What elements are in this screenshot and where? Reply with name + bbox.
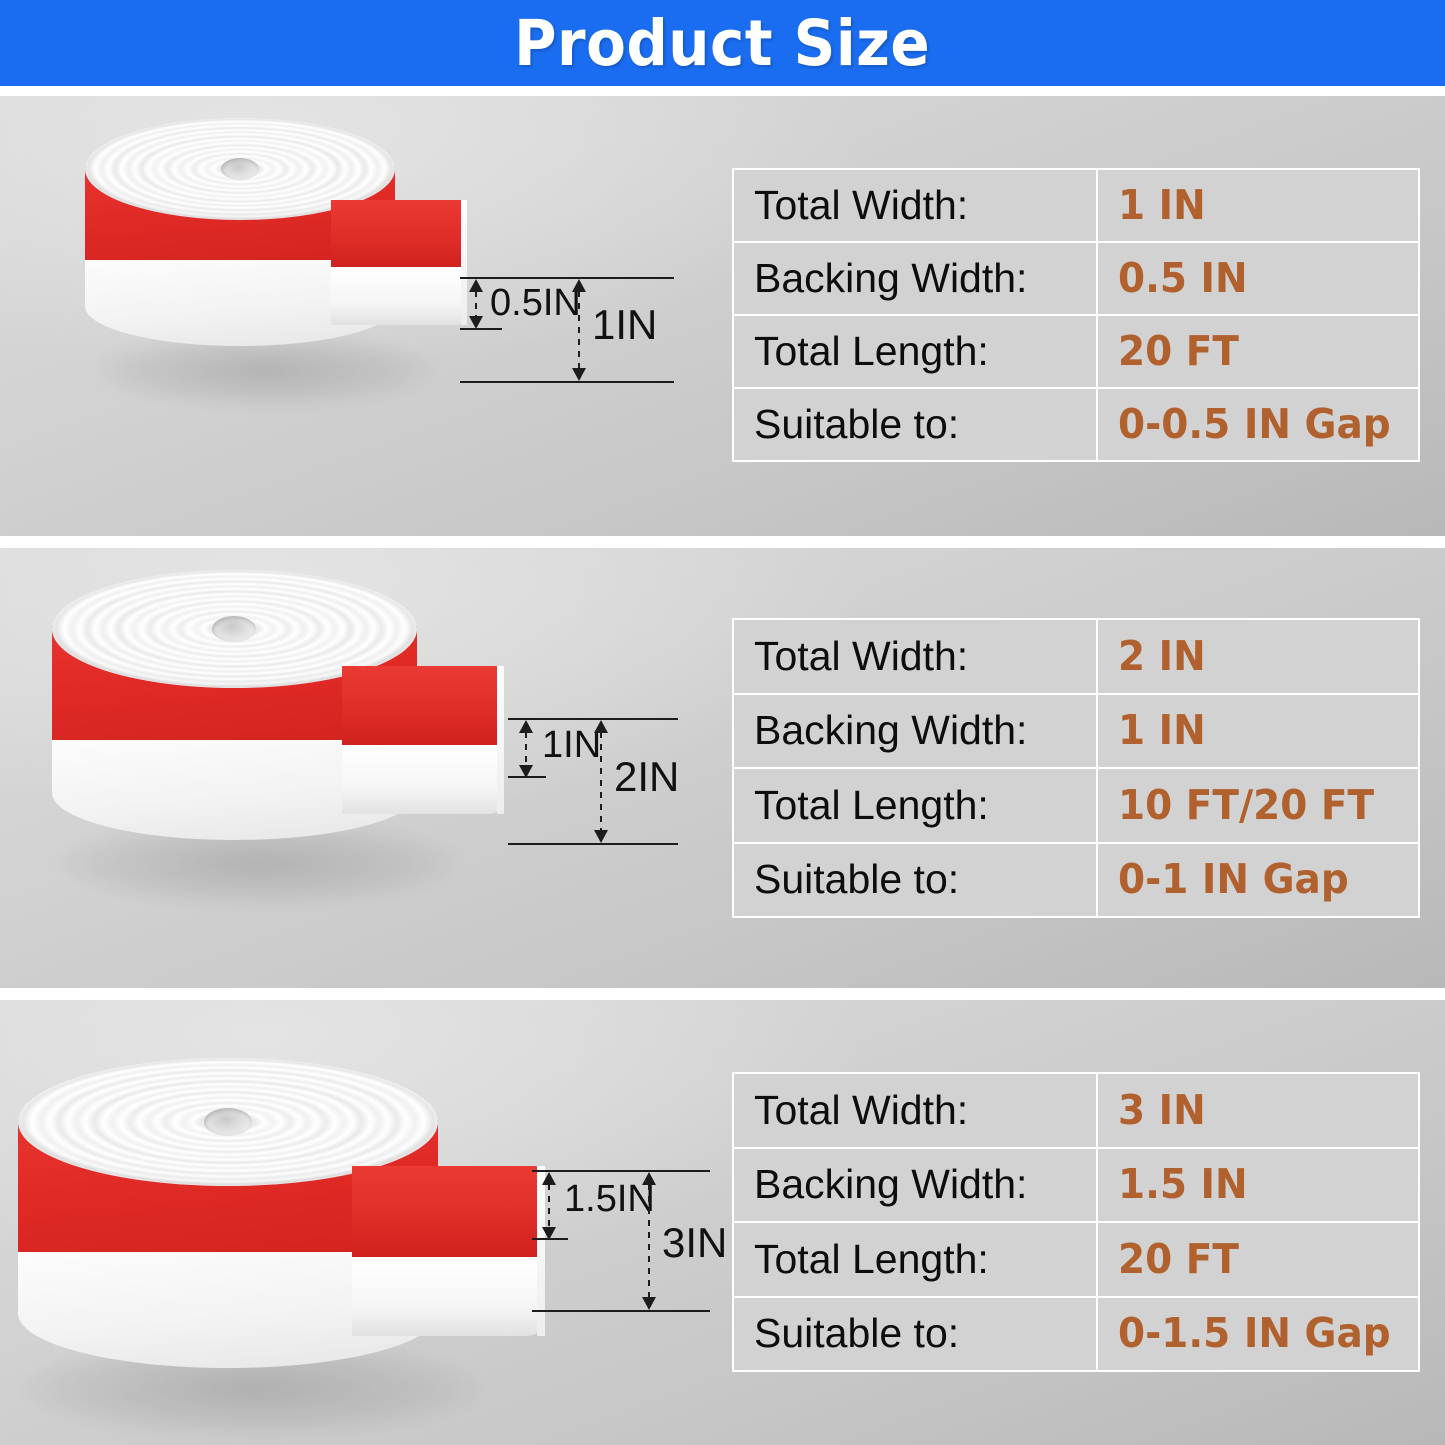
dim-top-extension-line-1 xyxy=(460,277,674,279)
spec-cell-label: Total Length: xyxy=(734,769,1096,842)
table-row: Total Length: 10 FT/20 FT xyxy=(734,769,1418,842)
dim-backing-dash-3 xyxy=(548,1184,550,1228)
table-row: Total Width: 2 IN xyxy=(734,620,1418,693)
spec-value-backing-width-2: 1 IN xyxy=(1118,710,1206,751)
product-panel-2: 1IN 2IN Total Width: 2 IN Backing Width:… xyxy=(0,548,1445,988)
spec-value-total-length-1: 20 FT xyxy=(1118,331,1239,372)
dim-total-arrow-1 xyxy=(578,279,580,381)
header-banner: Product Size xyxy=(0,0,1445,86)
roll-center-hole-1 xyxy=(221,158,259,180)
dim-total-dash-3 xyxy=(648,1184,650,1298)
roll-tail-white-2 xyxy=(342,745,502,814)
tape-roll-image-3 xyxy=(18,1058,558,1445)
dim-total-label-2: 2IN xyxy=(614,756,679,798)
dim-backing-dash-1 xyxy=(475,291,477,317)
spec-cell-value: 20 FT xyxy=(1098,316,1418,387)
spec-cell-value: 0-1.5 IN Gap xyxy=(1098,1298,1418,1371)
spec-cell-label: Backing Width: xyxy=(734,243,1096,314)
dim-backing-label-3: 1.5IN xyxy=(564,1180,655,1218)
spec-label-backing-width-3: Backing Width: xyxy=(754,1161,1027,1207)
spec-table-3: Total Width: 3 IN Backing Width: 1.5 IN … xyxy=(732,1072,1420,1372)
table-row: Total Length: 20 FT xyxy=(734,316,1418,387)
dim-backing-arrow-2 xyxy=(525,720,527,778)
roll-tail-red-3 xyxy=(352,1166,542,1257)
page-title: Product Size xyxy=(514,12,930,75)
spec-value-total-length-3: 20 FT xyxy=(1118,1239,1239,1280)
dimension-annotation-2: 1IN 2IN xyxy=(498,548,728,928)
dimension-annotation-1: 0.5IN 1IN xyxy=(450,96,680,436)
dim-total-arrow-down-3 xyxy=(642,1297,656,1310)
roll-tail-red-1 xyxy=(331,200,466,267)
dim-backing-label-2: 1IN xyxy=(542,726,601,764)
spec-label-suitable-to-3: Suitable to: xyxy=(754,1310,959,1356)
roll-tail-red-2 xyxy=(342,666,502,745)
spec-table-1: Total Width: 1 IN Backing Width: 0.5 IN … xyxy=(732,168,1420,462)
dim-top-extension-line-3 xyxy=(532,1170,710,1172)
product-panel-1: 0.5IN 1IN Total Width: 1 IN Backing Widt… xyxy=(0,96,1445,536)
spec-value-suitable-to-3: 0-1.5 IN Gap xyxy=(1118,1313,1391,1354)
table-row: Total Width: 1 IN xyxy=(734,170,1418,241)
dim-total-label-1: 1IN xyxy=(592,304,657,346)
dim-total-arrow-down-1 xyxy=(572,368,586,381)
spec-label-suitable-to-1: Suitable to: xyxy=(754,401,959,447)
spec-label-suitable-to-2: Suitable to: xyxy=(754,856,959,902)
roll-tail-1 xyxy=(331,200,466,325)
dim-total-dash-1 xyxy=(578,291,580,369)
dim-backing-dash-2 xyxy=(525,732,527,766)
roll-tail-2 xyxy=(342,666,502,814)
spec-cell-value: 0.5 IN xyxy=(1098,243,1418,314)
spec-cell-label: Total Width: xyxy=(734,620,1096,693)
table-row: Backing Width: 1.5 IN xyxy=(734,1149,1418,1222)
roll-tail-white-3 xyxy=(352,1257,542,1336)
spec-cell-value: 1 IN xyxy=(1098,695,1418,768)
spec-value-suitable-to-2: 0-1 IN Gap xyxy=(1118,859,1349,900)
table-row: Suitable to: 0-1 IN Gap xyxy=(734,844,1418,917)
dim-bottom-extension-line-3 xyxy=(532,1310,710,1312)
product-panel-3: 1.5IN 3IN Total Width: 3 IN Backing Widt… xyxy=(0,1000,1445,1445)
roll-tail-3 xyxy=(352,1166,542,1336)
dim-backing-arrow-down-1 xyxy=(469,316,483,329)
dim-backing-arrow-1 xyxy=(475,279,477,329)
spec-cell-value: 1.5 IN xyxy=(1098,1149,1418,1222)
spec-value-total-width-1: 1 IN xyxy=(1118,185,1206,226)
spec-value-backing-width-1: 0.5 IN xyxy=(1118,258,1248,299)
roll-tail-white-1 xyxy=(331,267,466,325)
spec-label-backing-width-2: Backing Width: xyxy=(754,707,1027,753)
spec-table-2: Total Width: 2 IN Backing Width: 1 IN To… xyxy=(732,618,1420,918)
dimension-annotation-3: 1.5IN 3IN xyxy=(524,1000,744,1400)
spec-value-suitable-to-1: 0-0.5 IN Gap xyxy=(1118,404,1391,445)
product-size-infographic: Product Size xyxy=(0,0,1445,1445)
dim-bottom-extension-line-2 xyxy=(508,843,678,845)
spec-label-backing-width-1: Backing Width: xyxy=(754,255,1027,301)
dim-total-arrow-down-2 xyxy=(594,830,608,843)
spec-cell-value: 0-0.5 IN Gap xyxy=(1098,389,1418,460)
table-row: Suitable to: 0-0.5 IN Gap xyxy=(734,389,1418,460)
spec-cell-value: 3 IN xyxy=(1098,1074,1418,1147)
spec-label-total-width-2: Total Width: xyxy=(754,633,968,679)
spec-value-total-length-2: 10 FT/20 FT xyxy=(1118,785,1374,826)
spec-label-total-width-1: Total Width: xyxy=(754,182,968,228)
spec-cell-label: Suitable to: xyxy=(734,1298,1096,1371)
spec-cell-label: Backing Width: xyxy=(734,1149,1096,1222)
spec-cell-value: 10 FT/20 FT xyxy=(1098,769,1418,842)
spec-cell-label: Total Length: xyxy=(734,316,1096,387)
table-row: Total Length: 20 FT xyxy=(734,1223,1418,1296)
dim-total-arrow-3 xyxy=(648,1172,650,1310)
dim-backing-label-1: 0.5IN xyxy=(490,284,581,322)
table-row: Total Width: 3 IN xyxy=(734,1074,1418,1147)
spec-cell-value: 0-1 IN Gap xyxy=(1098,844,1418,917)
spec-value-total-width-2: 2 IN xyxy=(1118,636,1206,677)
spec-table-grid-3: Total Width: 3 IN Backing Width: 1.5 IN … xyxy=(732,1072,1420,1372)
spec-table-grid-1: Total Width: 1 IN Backing Width: 0.5 IN … xyxy=(732,168,1420,462)
spec-cell-label: Total Width: xyxy=(734,170,1096,241)
spec-cell-value: 20 FT xyxy=(1098,1223,1418,1296)
dim-total-arrow-2 xyxy=(600,720,602,843)
tape-roll-image-2 xyxy=(52,570,512,910)
dim-bottom-extension-line-1 xyxy=(460,381,674,383)
dim-top-extension-line-2 xyxy=(508,718,678,720)
table-row: Backing Width: 0.5 IN xyxy=(734,243,1418,314)
spec-cell-label: Suitable to: xyxy=(734,844,1096,917)
spec-label-total-length-1: Total Length: xyxy=(754,328,989,374)
tape-roll-image-1 xyxy=(85,118,475,418)
table-row: Backing Width: 1 IN xyxy=(734,695,1418,768)
spec-table-grid-2: Total Width: 2 IN Backing Width: 1 IN To… xyxy=(732,618,1420,918)
spec-cell-label: Total Length: xyxy=(734,1223,1096,1296)
spec-cell-label: Suitable to: xyxy=(734,389,1096,460)
dim-backing-arrow-down-3 xyxy=(542,1227,556,1240)
roll-center-hole-3 xyxy=(204,1108,252,1136)
spec-value-backing-width-3: 1.5 IN xyxy=(1118,1164,1248,1205)
spec-cell-label: Total Width: xyxy=(734,1074,1096,1147)
spec-cell-value: 2 IN xyxy=(1098,620,1418,693)
spec-label-total-length-2: Total Length: xyxy=(754,782,989,828)
roll-center-hole-2 xyxy=(212,616,256,642)
dim-backing-arrow-3 xyxy=(548,1172,550,1240)
dim-total-dash-2 xyxy=(600,732,602,831)
spec-label-total-length-3: Total Length: xyxy=(754,1236,989,1282)
spec-cell-label: Backing Width: xyxy=(734,695,1096,768)
spec-cell-value: 1 IN xyxy=(1098,170,1418,241)
spec-label-total-width-3: Total Width: xyxy=(754,1087,968,1133)
dim-backing-arrow-down-2 xyxy=(519,765,533,778)
table-row: Suitable to: 0-1.5 IN Gap xyxy=(734,1298,1418,1371)
dim-total-label-3: 3IN xyxy=(662,1222,727,1264)
spec-value-total-width-3: 3 IN xyxy=(1118,1090,1206,1131)
